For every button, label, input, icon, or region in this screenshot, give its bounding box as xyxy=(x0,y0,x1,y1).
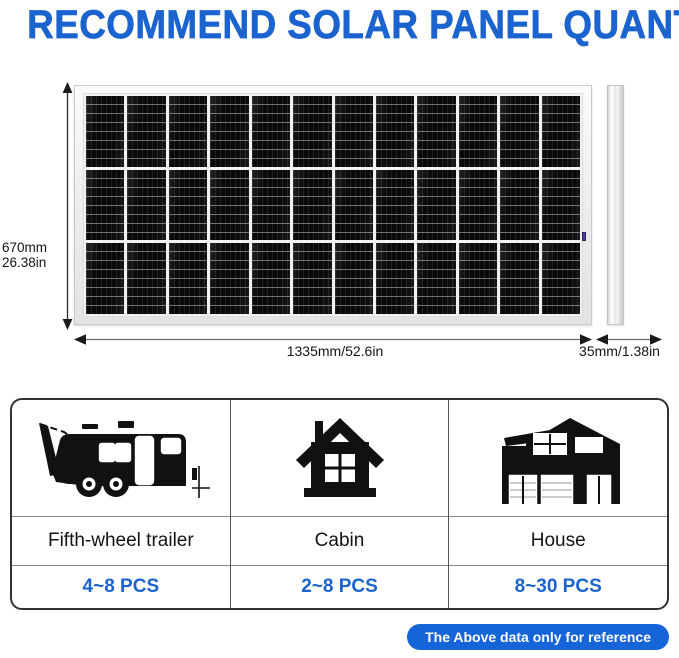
solar-cell xyxy=(210,170,248,241)
table-quantity-house: 8~30 PCS xyxy=(449,566,667,608)
table-column-cabin: Cabin 2~8 PCS xyxy=(230,400,449,608)
fifth-wheel-trailer-icon xyxy=(26,410,216,506)
cell-row xyxy=(86,170,580,241)
junction-box-icon xyxy=(582,232,586,241)
house-icon xyxy=(492,410,624,506)
table-label-trailer: Fifth-wheel trailer xyxy=(12,517,230,566)
solar-cell xyxy=(293,96,331,167)
solar-cell xyxy=(86,170,124,241)
solar-cell xyxy=(417,243,455,314)
reference-note-badge: The Above data only for reference xyxy=(407,624,669,650)
cell-row xyxy=(86,243,580,314)
solar-cell xyxy=(500,170,538,241)
solar-cell xyxy=(542,243,580,314)
cell-row xyxy=(86,96,580,167)
solar-cell xyxy=(86,96,124,167)
table-label-house: House xyxy=(449,517,667,566)
solar-cell xyxy=(417,170,455,241)
solar-cell xyxy=(86,243,124,314)
table-icon-cell xyxy=(449,400,667,517)
solar-cell xyxy=(335,243,373,314)
table-label-cabin: Cabin xyxy=(231,517,449,566)
solar-cell xyxy=(169,96,207,167)
solar-panel-diagram: 670mm 26.38in xyxy=(0,60,679,380)
table-quantity-cabin: 2~8 PCS xyxy=(231,566,449,608)
solar-cell xyxy=(459,96,497,167)
solar-cell xyxy=(210,243,248,314)
solar-cell xyxy=(376,96,414,167)
solar-cell xyxy=(293,170,331,241)
table-icon-cell xyxy=(12,400,230,517)
panel-height-mm: 670mm xyxy=(2,240,60,255)
solar-cell xyxy=(252,170,290,241)
table-icon-cell xyxy=(231,400,449,517)
solar-cell xyxy=(127,170,165,241)
table-quantity-trailer: 4~8 PCS xyxy=(12,566,230,608)
solar-cell xyxy=(293,243,331,314)
solar-panel-side-view xyxy=(607,85,624,325)
solar-cell xyxy=(459,243,497,314)
solar-cell xyxy=(459,170,497,241)
solar-cell xyxy=(169,243,207,314)
recommendation-table: Fifth-wheel trailer 4~8 PCS xyxy=(10,398,669,610)
panel-thickness-label: 35mm/1.38in xyxy=(560,343,679,359)
solar-cell xyxy=(335,170,373,241)
solar-cell xyxy=(127,96,165,167)
solar-cell xyxy=(500,96,538,167)
solar-cell xyxy=(210,96,248,167)
table-column-house: House 8~30 PCS xyxy=(448,400,667,608)
page-title: RECOMMEND SOLAR PANEL QUANTITY xyxy=(27,3,652,47)
panel-width-label: 1335mm/52.6in xyxy=(190,343,480,359)
solar-cell xyxy=(335,96,373,167)
height-dimension-arrow-icon xyxy=(61,82,74,330)
panel-height-label: 670mm 26.38in xyxy=(2,240,60,270)
table-column-trailer: Fifth-wheel trailer 4~8 PCS xyxy=(12,400,230,608)
panel-cell-grid xyxy=(83,93,583,317)
solar-cell xyxy=(376,243,414,314)
cabin-icon xyxy=(292,410,388,506)
solar-cell xyxy=(127,243,165,314)
panel-height-in: 26.38in xyxy=(2,255,60,270)
solar-cell xyxy=(169,170,207,241)
solar-panel-front-view xyxy=(74,85,592,325)
solar-cell xyxy=(542,170,580,241)
solar-cell xyxy=(500,243,538,314)
solar-cell xyxy=(376,170,414,241)
solar-cell xyxy=(417,96,455,167)
solar-cell xyxy=(252,96,290,167)
solar-cell xyxy=(542,96,580,167)
solar-cell xyxy=(252,243,290,314)
